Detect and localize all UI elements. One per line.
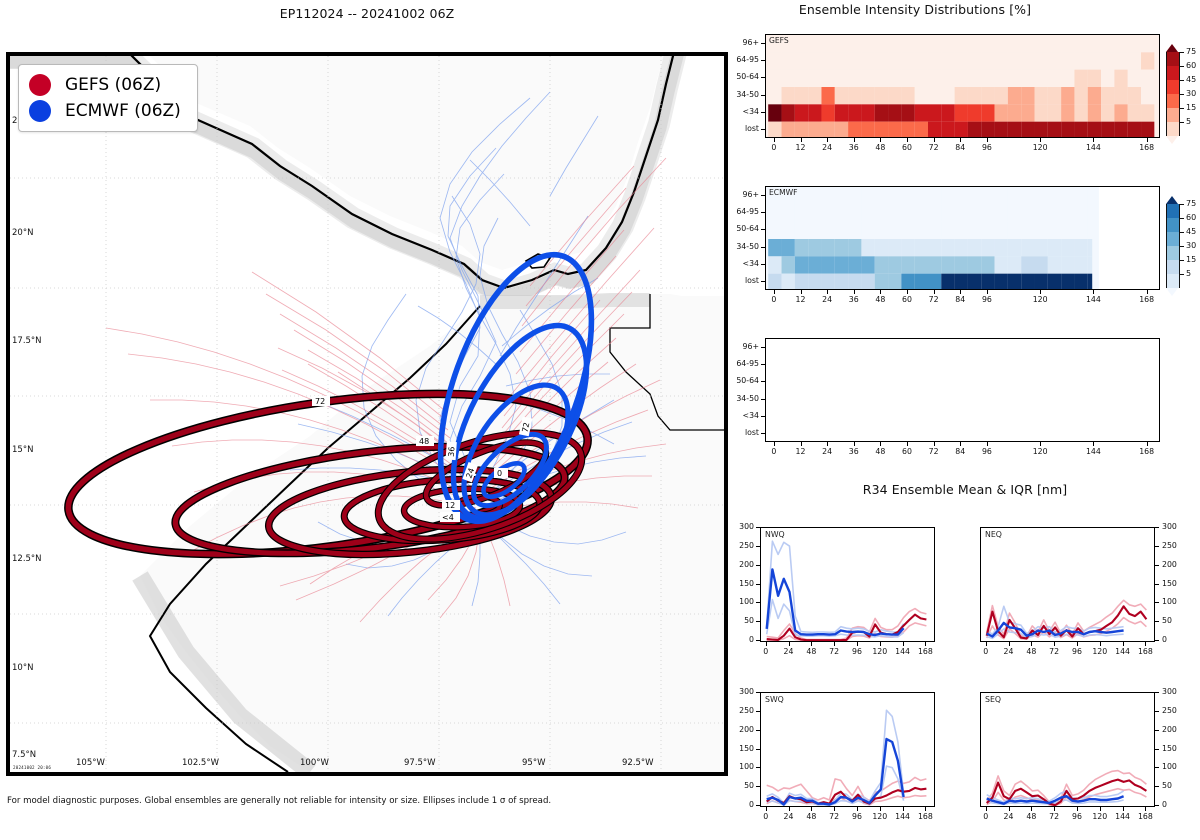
r34-y-tick-label: 200	[730, 725, 754, 734]
colorbar-tick-label: 15	[1186, 255, 1196, 264]
svg-text:12: 12	[445, 501, 455, 510]
intensity-x-tick: 72	[920, 447, 948, 456]
r34-x-tick-label: 144	[1111, 812, 1135, 821]
r34-y-tick-label: 250	[1162, 706, 1186, 715]
r34-x-tick-label: 24	[997, 647, 1021, 656]
r34-y-tick-label: 100	[730, 597, 754, 606]
colorbar-tick	[1179, 274, 1184, 275]
colorbar-tick-label: 45	[1186, 227, 1196, 236]
heatmap-cells	[766, 187, 1159, 289]
r34-y-tick-label: 250	[730, 541, 754, 550]
intensity-x-tick: 84	[946, 295, 974, 304]
r34-x-tick-label: 120	[868, 812, 892, 821]
r34-y-tick-mark	[1155, 527, 1159, 528]
lat-tick-12: 12.5°N	[12, 554, 42, 564]
intensity-x-tick: 24	[813, 295, 841, 304]
r34-y-tick-label: 300	[730, 687, 754, 696]
x-tick-mark	[1093, 138, 1094, 142]
r34-quadrant-tag: SEQ	[985, 695, 1001, 704]
lon-tick-92: 92.5°W	[622, 758, 654, 768]
intensity-y-tick: 96+	[717, 190, 759, 199]
colorbar-tick-label: 60	[1186, 213, 1196, 222]
r34-x-tick-mark	[1031, 642, 1032, 646]
colorbar-tick	[1179, 232, 1184, 233]
r34-x-tick-mark	[1031, 807, 1032, 811]
forecast-track-map[interactable]: 72 48 36 24 12 <4 0 72 22.5°N 20°N 17.5°…	[6, 52, 728, 776]
x-tick-mark	[854, 138, 855, 142]
r34-y-tick-mark	[756, 767, 760, 768]
blue-dot-icon	[29, 100, 51, 122]
r34-x-tick-mark	[880, 642, 881, 646]
intensity-x-tick: 24	[813, 447, 841, 456]
x-tick-mark	[854, 290, 855, 294]
svg-text:48: 48	[419, 437, 429, 446]
r34-x-tick-mark	[789, 807, 790, 811]
r34-y-tick-label: 250	[730, 706, 754, 715]
intensity-heatmap-empty[interactable]	[765, 338, 1160, 442]
r34-x-tick-label: 168	[913, 812, 937, 821]
r34-x-tick-label: 0	[974, 647, 998, 656]
r34-y-tick-label: 200	[1162, 560, 1186, 569]
colorbar-tick	[1179, 80, 1184, 81]
r34-x-tick-label: 48	[799, 812, 823, 821]
r34-x-tick-mark	[903, 807, 904, 811]
colorbar-tick-label: 75	[1186, 47, 1196, 56]
r34-y-tick-mark	[1155, 546, 1159, 547]
r34-y-tick-mark	[756, 602, 760, 603]
intensity-x-tick: 96	[973, 447, 1001, 456]
r34-series	[981, 693, 1154, 806]
r34-x-tick-mark	[986, 807, 987, 811]
r34-x-tick-label: 0	[974, 812, 998, 821]
r34-x-tick-label: 120	[1088, 812, 1112, 821]
intensity-x-tick: 60	[893, 295, 921, 304]
r34-x-tick-label: 96	[845, 812, 869, 821]
x-tick-mark	[1147, 290, 1148, 294]
lat-tick-20: 20°N	[12, 228, 33, 238]
colorbar-ramp	[1166, 196, 1178, 296]
y-tick-mark	[761, 416, 765, 417]
x-tick-mark	[960, 138, 961, 142]
intensity-x-tick: 84	[946, 447, 974, 456]
r34-y-tick-mark	[756, 692, 760, 693]
svg-text:36: 36	[447, 446, 457, 457]
r34-y-tick-label: 100	[1162, 762, 1186, 771]
y-tick-mark	[761, 212, 765, 213]
colorbar-tick	[1179, 260, 1184, 261]
r34-x-tick-mark	[880, 807, 881, 811]
r34-x-tick-label: 72	[1042, 647, 1066, 656]
intensity-x-tick: 168	[1133, 295, 1161, 304]
r34-y-tick-mark	[756, 527, 760, 528]
r34-panel-seq[interactable]: SEQ	[980, 692, 1155, 807]
r34-y-tick-mark	[1155, 602, 1159, 603]
r34-y-tick-label: 0	[730, 635, 754, 644]
r34-x-tick-label: 48	[1019, 812, 1043, 821]
r34-y-tick-label: 300	[730, 522, 754, 531]
r34-series	[981, 528, 1154, 641]
r34-x-tick-mark	[925, 642, 926, 646]
intensity-x-tick: 168	[1133, 143, 1161, 152]
r34-y-tick-mark	[1155, 711, 1159, 712]
r34-y-tick-label: 150	[1162, 744, 1186, 753]
intensity-x-tick: 12	[787, 295, 815, 304]
r34-y-tick-mark	[1155, 749, 1159, 750]
colorbar-tick	[1179, 52, 1184, 53]
r34-y-tick-mark	[756, 546, 760, 547]
intensity-x-tick: 36	[840, 447, 868, 456]
r34-y-tick-label: 100	[1162, 597, 1186, 606]
r34-series	[761, 693, 934, 806]
intensity-x-tick: 24	[813, 143, 841, 152]
intensity-x-tick: 84	[946, 143, 974, 152]
intensity-x-tick: 48	[866, 143, 894, 152]
y-tick-mark	[761, 381, 765, 382]
intensity-heatmap-gefs[interactable]: GEFS	[765, 34, 1160, 138]
y-tick-mark	[761, 364, 765, 365]
r34-x-tick-mark	[857, 642, 858, 646]
r34-x-tick-label: 120	[1088, 647, 1112, 656]
r34-x-tick-mark	[1100, 642, 1101, 646]
x-tick-mark	[801, 442, 802, 446]
r34-panel-neq[interactable]: NEQ	[980, 527, 1155, 642]
y-tick-mark	[761, 347, 765, 348]
r34-y-tick-mark	[1155, 767, 1159, 768]
x-tick-mark	[1093, 442, 1094, 446]
x-tick-mark	[1040, 138, 1041, 142]
lon-tick-105: 105°W	[76, 758, 105, 768]
intensity-x-tick: 144	[1079, 447, 1107, 456]
intensity-x-tick: 144	[1079, 143, 1107, 152]
r34-y-tick-label: 50	[1162, 616, 1186, 625]
intensity-y-tick: 34-50	[717, 90, 759, 99]
r34-y-tick-mark	[1155, 565, 1159, 566]
r34-y-tick-mark	[756, 565, 760, 566]
r34-x-tick-label: 168	[1133, 647, 1157, 656]
legend-row-gefs[interactable]: GEFS (06Z)	[29, 72, 181, 98]
y-tick-mark	[761, 433, 765, 434]
r34-x-tick-mark	[1077, 642, 1078, 646]
r34-y-tick-mark	[756, 749, 760, 750]
r34-x-tick-mark	[1054, 642, 1055, 646]
r34-x-tick-mark	[986, 642, 987, 646]
r34-y-tick-mark	[1155, 692, 1159, 693]
y-tick-mark	[761, 112, 765, 113]
colorbar-tick-label: 60	[1186, 61, 1196, 70]
r34-x-tick-label: 24	[777, 647, 801, 656]
r34-y-tick-mark	[1155, 584, 1159, 585]
x-tick-mark	[801, 290, 802, 294]
map-legend[interactable]: GEFS (06Z) ECMWF (06Z)	[18, 64, 198, 132]
r34-y-tick-label: 300	[1162, 687, 1186, 696]
y-tick-mark	[761, 399, 765, 400]
r34-y-tick-mark	[1155, 621, 1159, 622]
intensity-y-tick: 64-95	[717, 55, 759, 64]
lon-tick-100: 100°W	[300, 758, 329, 768]
x-tick-mark	[1093, 290, 1094, 294]
intensity-x-tick: 0	[760, 295, 788, 304]
x-tick-mark	[880, 290, 881, 294]
legend-row-ecmwf[interactable]: ECMWF (06Z)	[29, 98, 181, 124]
r34-x-tick-mark	[857, 807, 858, 811]
intensity-x-tick: 144	[1079, 295, 1107, 304]
intensity-y-tick: 96+	[717, 342, 759, 351]
intensity-x-tick: 12	[787, 447, 815, 456]
intensity-x-tick: 36	[840, 143, 868, 152]
r34-title: R34 Ensemble Mean & IQR [nm]	[745, 482, 1185, 497]
x-tick-mark	[960, 290, 961, 294]
x-tick-mark	[907, 442, 908, 446]
r34-y-tick-label: 50	[1162, 781, 1186, 790]
r34-quadrant-tag: NEQ	[985, 530, 1002, 539]
intensity-y-tick: lost	[717, 276, 759, 285]
r34-x-tick-label: 120	[868, 647, 892, 656]
intensity-x-tick: 72	[920, 295, 948, 304]
x-tick-mark	[827, 138, 828, 142]
intensity-y-tick: <34	[717, 107, 759, 116]
r34-x-tick-label: 168	[913, 647, 937, 656]
x-tick-mark	[1147, 442, 1148, 446]
lat-tick-15: 15°N	[12, 445, 33, 455]
colorbar-tick-label: 5	[1186, 117, 1191, 126]
lat-tick-10: 10°N	[12, 663, 33, 673]
colorbar-tick	[1179, 122, 1184, 123]
x-tick-mark	[1040, 290, 1041, 294]
r34-x-tick-label: 48	[1019, 647, 1043, 656]
colorbar-tick-label: 15	[1186, 103, 1196, 112]
y-tick-mark	[761, 129, 765, 130]
x-tick-mark	[960, 442, 961, 446]
intensity-y-tick: 96+	[717, 38, 759, 47]
r34-x-tick-label: 24	[997, 812, 1021, 821]
r34-x-tick-mark	[1077, 807, 1078, 811]
r34-y-tick-label: 150	[730, 744, 754, 753]
x-tick-mark	[934, 442, 935, 446]
r34-x-tick-label: 72	[822, 812, 846, 821]
r34-y-tick-label: 250	[1162, 541, 1186, 550]
r34-y-tick-mark	[756, 805, 760, 806]
legend-label-ecmwf: ECMWF (06Z)	[65, 101, 181, 121]
x-tick-mark	[880, 138, 881, 142]
x-tick-mark	[1040, 442, 1041, 446]
intensity-x-tick: 168	[1133, 447, 1161, 456]
intensity-x-tick: 36	[840, 295, 868, 304]
intensity-y-tick: lost	[717, 124, 759, 133]
r34-x-tick-mark	[1145, 807, 1146, 811]
intensity-x-tick: 0	[760, 447, 788, 456]
r34-y-tick-label: 0	[1162, 635, 1186, 644]
r34-y-tick-label: 150	[1162, 579, 1186, 588]
colorbar-tick	[1179, 66, 1184, 67]
r34-x-tick-mark	[1054, 807, 1055, 811]
r34-y-tick-label: 200	[1162, 725, 1186, 734]
r34-x-tick-label: 0	[754, 647, 778, 656]
y-tick-mark	[761, 264, 765, 265]
intensity-y-tick: 50-64	[717, 72, 759, 81]
x-tick-mark	[880, 442, 881, 446]
r34-x-tick-mark	[1100, 807, 1101, 811]
r34-x-tick-mark	[1145, 642, 1146, 646]
x-tick-mark	[1147, 138, 1148, 142]
r34-y-tick-mark	[756, 640, 760, 641]
heatmap-cells	[766, 35, 1159, 137]
r34-y-tick-label: 200	[730, 560, 754, 569]
r34-panel-swq[interactable]: SWQ	[760, 692, 935, 807]
colorbar-tick	[1179, 204, 1184, 205]
y-tick-mark	[761, 229, 765, 230]
x-tick-mark	[934, 290, 935, 294]
colorbar-tick-label: 45	[1186, 75, 1196, 84]
r34-y-tick-mark	[756, 621, 760, 622]
figure-root: EP112024 -- 20241002 06Z	[0, 0, 1200, 840]
intensity-y-tick: <34	[717, 259, 759, 268]
colorbar-tick	[1179, 94, 1184, 95]
r34-y-tick-mark	[1155, 786, 1159, 787]
x-tick-mark	[934, 138, 935, 142]
intensity-colorbar-blues: 75604530155	[1158, 184, 1200, 294]
r34-series	[761, 528, 934, 641]
x-tick-mark	[907, 138, 908, 142]
x-tick-mark	[801, 138, 802, 142]
intensity-y-tick: 50-64	[717, 376, 759, 385]
x-tick-mark	[774, 290, 775, 294]
r34-x-tick-mark	[903, 642, 904, 646]
r34-x-tick-label: 0	[754, 812, 778, 821]
y-tick-mark	[761, 195, 765, 196]
r34-x-tick-label: 168	[1133, 812, 1157, 821]
figure-footnote: For model diagnostic purposes. Global en…	[7, 796, 551, 806]
intensity-x-tick: 48	[866, 295, 894, 304]
r34-y-tick-label: 0	[730, 800, 754, 809]
r34-x-tick-mark	[789, 642, 790, 646]
x-tick-mark	[854, 442, 855, 446]
heatmap-model-tag: GEFS	[769, 36, 789, 45]
r34-y-tick-label: 100	[730, 762, 754, 771]
r34-y-tick-label: 50	[730, 781, 754, 790]
r34-y-tick-mark	[756, 730, 760, 731]
r34-y-tick-label: 150	[730, 579, 754, 588]
y-tick-mark	[761, 281, 765, 282]
red-dot-icon	[29, 74, 51, 96]
y-tick-mark	[761, 77, 765, 78]
colorbar-tick	[1179, 218, 1184, 219]
x-tick-mark	[987, 442, 988, 446]
intensity-x-tick: 96	[973, 295, 1001, 304]
intensity-y-tick: 34-50	[717, 394, 759, 403]
legend-label-gefs: GEFS (06Z)	[65, 75, 161, 95]
r34-x-tick-label: 24	[777, 812, 801, 821]
lon-tick-97: 97.5°W	[404, 758, 436, 768]
svg-text:<4: <4	[442, 513, 454, 522]
r34-x-tick-label: 96	[1065, 647, 1089, 656]
x-tick-mark	[907, 290, 908, 294]
intensity-y-tick: <34	[717, 411, 759, 420]
r34-x-tick-mark	[834, 807, 835, 811]
colorbar-tick-label: 5	[1186, 269, 1191, 278]
r34-x-tick-mark	[1009, 642, 1010, 646]
intensity-x-tick: 120	[1026, 295, 1054, 304]
r34-x-tick-label: 48	[799, 647, 823, 656]
r34-quadrant-tag: NWQ	[765, 530, 785, 539]
colorbar-tick	[1179, 108, 1184, 109]
r34-y-tick-mark	[756, 584, 760, 585]
render-timestamp: 20241002 20:06	[13, 765, 51, 770]
r34-y-tick-mark	[1155, 640, 1159, 641]
intensity-x-tick: 96	[973, 143, 1001, 152]
y-tick-mark	[761, 247, 765, 248]
r34-y-tick-mark	[1155, 805, 1159, 806]
r34-y-tick-label: 300	[1162, 522, 1186, 531]
intensity-y-tick: 50-64	[717, 224, 759, 233]
r34-x-tick-label: 72	[1042, 812, 1066, 821]
r34-y-tick-label: 0	[1162, 800, 1186, 809]
intensity-x-tick: 120	[1026, 143, 1054, 152]
x-tick-mark	[987, 138, 988, 142]
intensity-heatmap-ecmwf[interactable]: ECMWF	[765, 186, 1160, 290]
r34-x-tick-label: 72	[822, 647, 846, 656]
r34-panel-nwq[interactable]: NWQ	[760, 527, 935, 642]
r34-x-tick-mark	[766, 807, 767, 811]
heatmap-model-tag: ECMWF	[769, 188, 798, 197]
intensity-y-tick: 34-50	[717, 242, 759, 251]
figure-title: EP112024 -- 20241002 06Z	[6, 6, 728, 21]
r34-x-tick-mark	[766, 642, 767, 646]
intensity-x-tick: 0	[760, 143, 788, 152]
intensity-y-tick: lost	[717, 428, 759, 437]
r34-x-tick-mark	[925, 807, 926, 811]
map-canvas: 72 48 36 24 12 <4 0 72	[10, 56, 724, 772]
intensity-x-tick: 48	[866, 447, 894, 456]
x-tick-mark	[987, 290, 988, 294]
x-tick-mark	[774, 442, 775, 446]
y-tick-mark	[761, 60, 765, 61]
colorbar-ramp	[1166, 44, 1178, 144]
y-tick-mark	[761, 95, 765, 96]
r34-y-tick-mark	[1155, 730, 1159, 731]
r34-x-tick-mark	[1123, 807, 1124, 811]
r34-x-tick-label: 96	[845, 647, 869, 656]
r34-y-tick-mark	[756, 711, 760, 712]
colorbar-tick-label: 30	[1186, 89, 1196, 98]
r34-quadrant-tag: SWQ	[765, 695, 784, 704]
r34-x-tick-label: 144	[891, 812, 915, 821]
colorbar-tick-label: 75	[1186, 199, 1196, 208]
r34-x-tick-label: 96	[1065, 812, 1089, 821]
colorbar-tick	[1179, 246, 1184, 247]
x-tick-mark	[827, 290, 828, 294]
svg-text:0: 0	[497, 469, 502, 478]
lon-tick-95: 95°W	[522, 758, 545, 768]
lon-tick-102: 102.5°W	[182, 758, 219, 768]
r34-x-tick-mark	[1009, 807, 1010, 811]
svg-text:72: 72	[315, 397, 325, 406]
r34-x-tick-label: 144	[891, 647, 915, 656]
intensity-x-tick: 120	[1026, 447, 1054, 456]
intensity-x-tick: 60	[893, 143, 921, 152]
r34-x-tick-mark	[811, 642, 812, 646]
lat-tick-7: 7.5°N	[12, 750, 36, 760]
r34-y-tick-mark	[756, 786, 760, 787]
r34-y-tick-label: 50	[730, 616, 754, 625]
intensity-x-tick: 12	[787, 143, 815, 152]
x-tick-mark	[774, 138, 775, 142]
r34-x-tick-mark	[811, 807, 812, 811]
intensity-title: Ensemble Intensity Distributions [%]	[745, 2, 1085, 17]
colorbar-tick-label: 30	[1186, 241, 1196, 250]
r34-x-tick-label: 144	[1111, 647, 1135, 656]
intensity-x-tick: 60	[893, 447, 921, 456]
lat-tick-17: 17.5°N	[12, 336, 42, 346]
